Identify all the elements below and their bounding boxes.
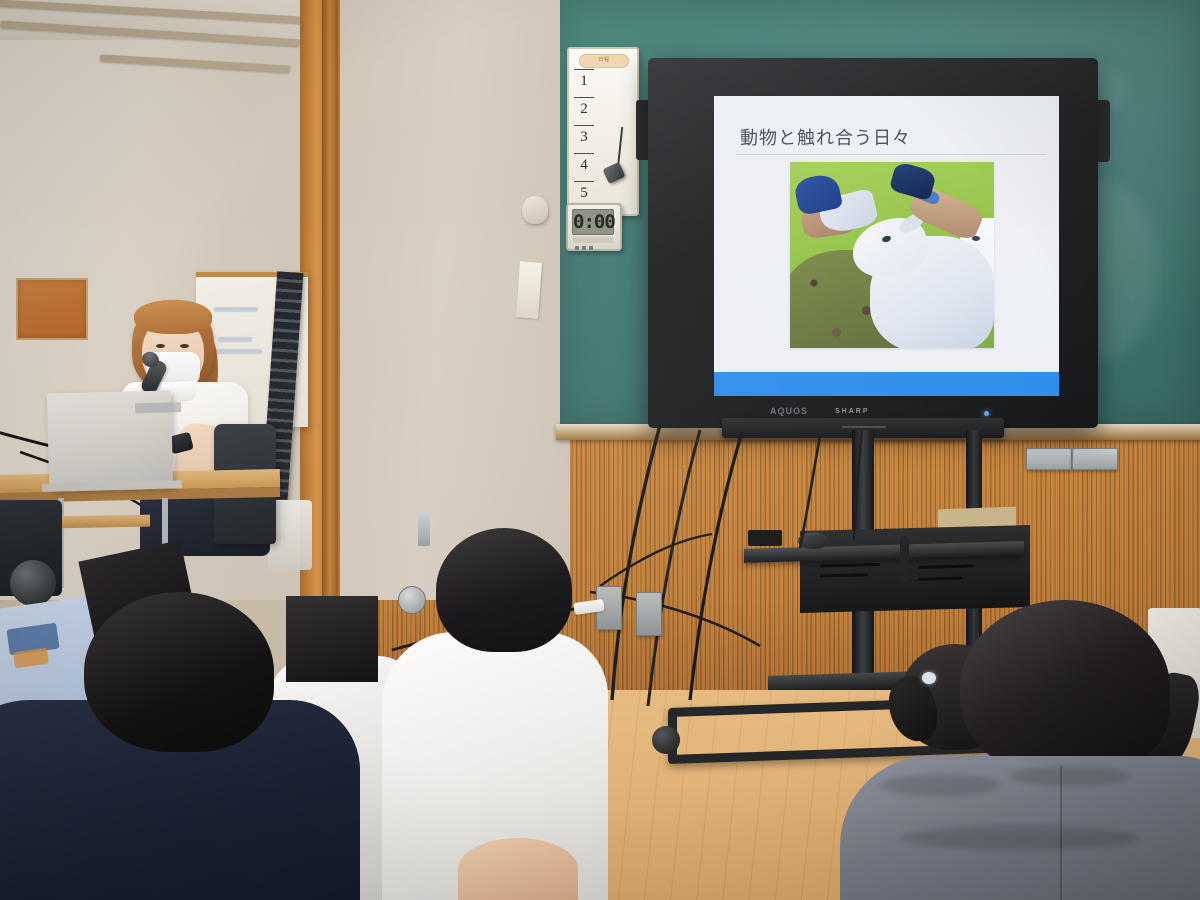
cart-knob[interactable]	[900, 536, 909, 582]
soundbar-indicator	[842, 426, 886, 428]
trolley-wheel	[10, 560, 56, 606]
paper-strip	[516, 261, 542, 318]
timer-display: 0:00	[572, 209, 614, 235]
wall-trim	[322, 0, 338, 620]
wall-slot-plate	[418, 512, 430, 546]
cart-backplate	[800, 525, 1030, 613]
schedule-header-label: 日程	[579, 54, 629, 68]
student-head	[960, 600, 1170, 776]
power-led-icon	[984, 411, 989, 416]
schedule-period-4: 4	[574, 153, 594, 178]
student-hoodie	[840, 756, 1200, 900]
classroom-photo: 日程 1 2 3 4 5 0:00 動物と触れ合う日々	[0, 0, 1200, 900]
wall-panel	[16, 278, 88, 340]
hoodie-seam	[1060, 766, 1062, 900]
blackboard-eraser[interactable]	[1026, 448, 1072, 470]
display-screen[interactable]: 動物と触れ合う日々	[714, 96, 1059, 396]
schedule-period-2: 2	[574, 97, 594, 122]
wall-hook	[522, 196, 548, 224]
laptop[interactable]	[47, 390, 173, 489]
student-head	[84, 592, 274, 752]
presenter-eye	[180, 344, 189, 348]
slide-photo	[790, 162, 994, 348]
schedule-marker[interactable]	[602, 162, 625, 184]
cart-device-box	[748, 530, 782, 546]
laptop-label	[135, 402, 181, 413]
slide-footer-band	[714, 372, 1059, 396]
display-model-mark: AQUOS	[770, 406, 808, 416]
presentation-slide: 動物と触れ合う日々	[714, 96, 1059, 396]
student-knee	[458, 838, 578, 900]
slide-title: 動物と触れ合う日々	[740, 124, 1041, 150]
schedule-header-text: 日程	[580, 55, 628, 66]
computer-mouse[interactable]	[798, 532, 828, 549]
blackboard-eraser[interactable]	[1072, 448, 1118, 470]
wall-display[interactable]: 動物と触れ合う日々	[648, 58, 1098, 428]
timer-buttons[interactable]	[573, 237, 613, 243]
slide-title-rule	[736, 154, 1045, 155]
digital-timer[interactable]: 0:00	[566, 203, 622, 251]
wall-vent-icon	[398, 586, 426, 614]
schedule-period-1: 1	[574, 69, 594, 94]
schedule-period-3: 3	[574, 125, 594, 150]
presenter-eye	[156, 344, 165, 348]
wall-outlet[interactable]	[636, 592, 662, 636]
student-head	[436, 528, 572, 652]
display-brand-label: SHARP	[835, 408, 870, 415]
presenter-bangs	[134, 300, 212, 334]
cart-caster	[652, 726, 680, 754]
student-head	[286, 596, 378, 682]
hair-clip	[922, 672, 936, 684]
schedule-board: 日程 1 2 3 4 5	[567, 47, 639, 216]
